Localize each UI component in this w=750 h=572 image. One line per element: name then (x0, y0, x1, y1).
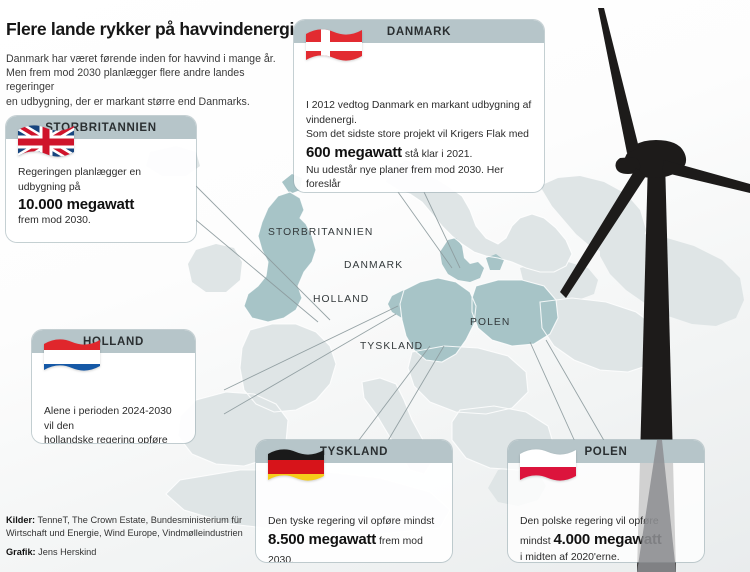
map-label-holland: HOLLAND (313, 294, 369, 305)
infographic-canvas: STORBRITANNIEN Regeringen planlægger en … (0, 0, 750, 572)
uk-flag-icon (16, 122, 76, 164)
credit-sources: Kilder: TenneT, The Crown Estate, Bundes… (6, 514, 256, 539)
deck-line: Danmark har været førende inden for havv… (6, 52, 276, 66)
poland-flag-icon (518, 446, 578, 488)
deck-line: en udbygning, der er markant større end … (6, 95, 276, 109)
netherlands-flag-icon (42, 336, 102, 378)
page-title: Flere lande rykker på havvindenergi (6, 20, 306, 39)
page-deck: Danmark har været førende inden for havv… (6, 52, 276, 109)
germany-flag-icon (266, 446, 326, 488)
credit-graphic-text: Jens Herskind (36, 547, 97, 557)
credit-graphic-label: Grafik: (6, 547, 36, 557)
credit-graphic: Grafik: Jens Herskind (6, 546, 256, 559)
map-label-danmark: DANMARK (344, 260, 403, 271)
deck-line: Men frem mod 2030 planlægger flere andre… (6, 66, 276, 94)
map-label-tyskland: TYSKLAND (360, 341, 423, 352)
map-label-storbritannien: STORBRITANNIEN (268, 227, 373, 238)
credit-sources-label: Kilder: (6, 515, 35, 525)
map-label-polen: POLEN (470, 317, 510, 328)
denmark-flag-icon (304, 26, 364, 68)
credit-sources-text: TenneT, The Crown Estate, Bundesminister… (6, 515, 243, 538)
